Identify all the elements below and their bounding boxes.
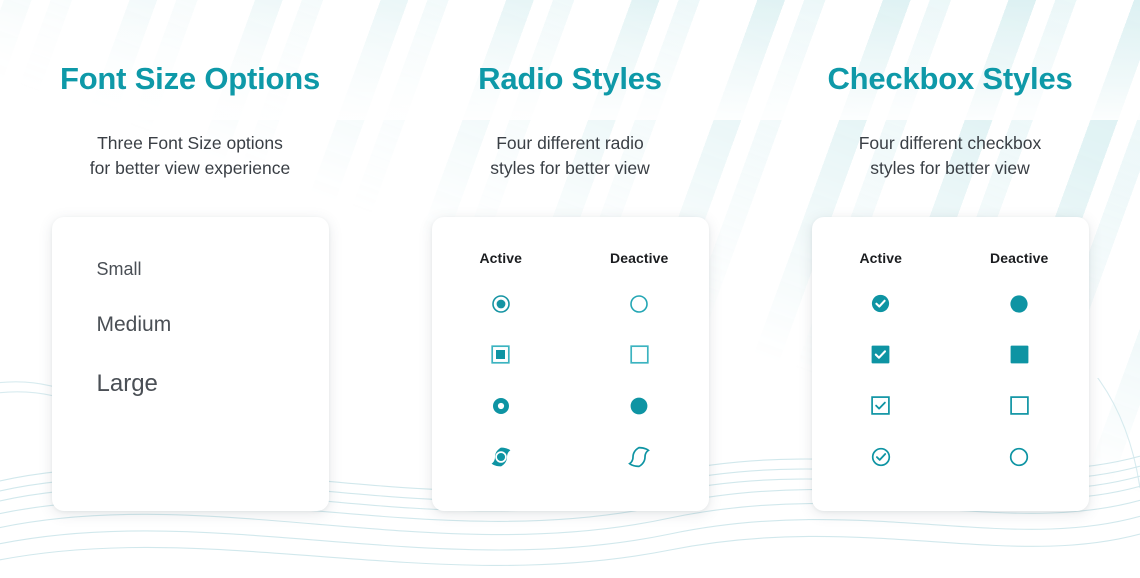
page-title-checkbox-styles: Checkbox Styles xyxy=(827,62,1072,96)
card-font-sizes: Small Medium Large xyxy=(52,217,329,511)
radio-table-header: Active Deactive xyxy=(432,250,709,266)
checkbox-row-4 xyxy=(812,444,1089,470)
column-checkbox-styles: Checkbox Styles Four different checkbox … xyxy=(760,62,1140,578)
subtitle-line-2: styles for better view xyxy=(490,158,650,178)
page-title-font-size-options: Font Size Options xyxy=(60,62,320,96)
radio-row-2 xyxy=(432,342,709,368)
checkbox-row-2 xyxy=(812,342,1089,368)
checkbox-table-header: Active Deactive xyxy=(812,250,1089,266)
font-size-option-medium[interactable]: Medium xyxy=(97,313,329,337)
font-size-option-small[interactable]: Small xyxy=(97,259,329,280)
radio-row-1 xyxy=(432,291,709,317)
subtitle-line-2: styles for better view xyxy=(870,158,1030,178)
subtitle-line-2: for better view experience xyxy=(90,158,290,178)
radio-circle-solid-icon[interactable] xyxy=(570,393,709,419)
radio-square-ring-filled-icon[interactable] xyxy=(432,342,571,368)
circle-outline-icon[interactable] xyxy=(950,444,1089,470)
check-square-solid-icon[interactable] xyxy=(812,342,951,368)
checkbox-row-1 xyxy=(812,291,1089,317)
checkbox-header-deactive: Deactive xyxy=(950,250,1089,266)
page-title-radio-styles: Radio Styles xyxy=(478,62,662,96)
subtitle-checkbox-styles: Four different checkbox styles for bette… xyxy=(859,131,1042,181)
columns-container: Font Size Options Three Font Size option… xyxy=(0,0,1140,578)
column-font-size-options: Font Size Options Three Font Size option… xyxy=(0,62,380,578)
checkbox-row-3 xyxy=(812,393,1089,419)
checkbox-header-active: Active xyxy=(812,250,951,266)
checkbox-options-table: Active Deactive xyxy=(812,217,1089,511)
radio-square-ring-empty-icon[interactable] xyxy=(570,342,709,368)
square-outline-icon[interactable] xyxy=(950,393,1089,419)
radio-leaf-ring-filled-icon[interactable] xyxy=(432,444,571,470)
radio-header-deactive: Deactive xyxy=(570,250,709,266)
subtitle-line-1: Four different radio xyxy=(496,133,644,153)
subtitle-line-1: Four different checkbox xyxy=(859,133,1042,153)
column-radio-styles: Radio Styles Four different radio styles… xyxy=(380,62,760,578)
radio-ring-filled-dot-icon[interactable] xyxy=(432,291,571,317)
check-square-outline-icon[interactable] xyxy=(812,393,951,419)
square-solid-icon[interactable] xyxy=(950,342,1089,368)
radio-leaf-ring-empty-icon[interactable] xyxy=(570,444,709,470)
radio-row-3 xyxy=(432,393,709,419)
radio-row-4 xyxy=(432,444,709,470)
subtitle-font-size-options: Three Font Size options for better view … xyxy=(90,131,290,181)
circle-solid-icon[interactable] xyxy=(950,291,1089,317)
radio-ring-empty-icon[interactable] xyxy=(570,291,709,317)
radio-header-active: Active xyxy=(432,250,571,266)
radio-donut-filled-icon[interactable] xyxy=(432,393,571,419)
subtitle-line-1: Three Font Size options xyxy=(97,133,283,153)
check-circle-solid-icon[interactable] xyxy=(812,291,951,317)
card-checkbox-styles: Active Deactive xyxy=(812,217,1089,511)
radio-options-table: Active Deactive xyxy=(432,217,709,511)
check-circle-outline-icon[interactable] xyxy=(812,444,951,470)
card-radio-styles: Active Deactive xyxy=(432,217,709,511)
subtitle-radio-styles: Four different radio styles for better v… xyxy=(490,131,650,181)
font-size-option-large[interactable]: Large xyxy=(97,370,329,398)
